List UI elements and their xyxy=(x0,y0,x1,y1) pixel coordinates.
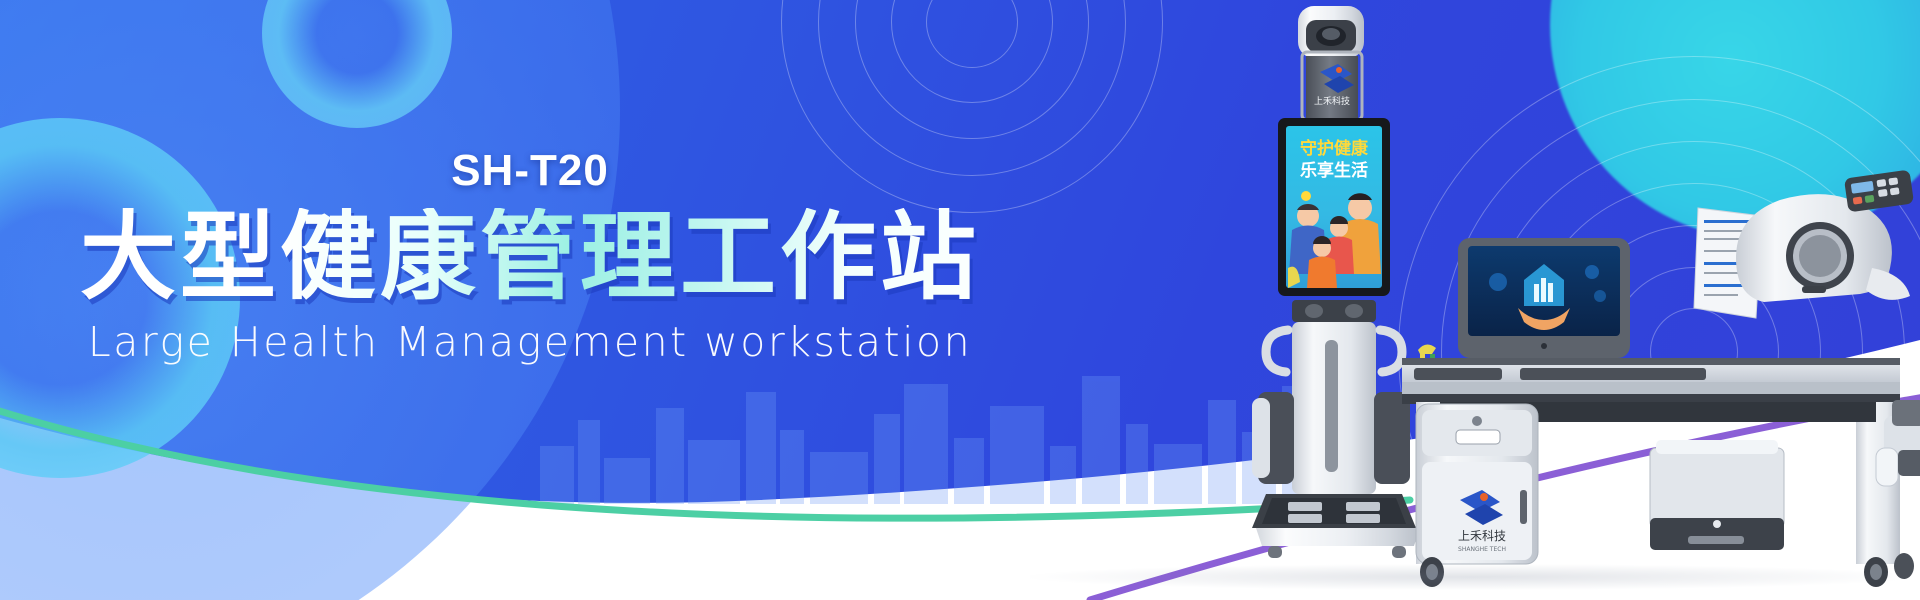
floor-shadow xyxy=(1030,564,1910,590)
page-title: 大型健康管理工作站 xyxy=(0,208,1060,308)
product-illustration: 上禾科技 守护健康 乐享生活 xyxy=(1020,0,1920,600)
kiosk-screen-headline-1: 守护健康 xyxy=(1300,138,1369,159)
printer-unit xyxy=(1650,440,1784,550)
cabinet-brand-cn: 上禾科技 xyxy=(1458,529,1506,543)
kiosk-screen-headline-2: 乐享生活 xyxy=(1300,160,1368,181)
headline-group: SH-T20 大型健康管理工作站 Large Health Management… xyxy=(0,0,1060,600)
blood-pressure-monitor xyxy=(1736,170,1914,302)
product-hero-banner: SH-T20 大型健康管理工作站 Large Health Management… xyxy=(0,0,1920,600)
model-code: SH-T20 xyxy=(0,146,1060,196)
kiosk-brand-cn: 上禾科技 xyxy=(1314,95,1350,107)
workstation-monitor: 智能健康管理工作站 xyxy=(1458,238,1630,373)
cabinet-brand-en: SHANGHE TECH xyxy=(1458,546,1506,553)
product-photo: 上禾科技 守护健康 乐享生活 xyxy=(1020,0,1920,600)
cabinet-unit: 上禾科技 SHANGHE TECH xyxy=(1416,404,1538,564)
kiosk-display: 守护健康 乐享生活 xyxy=(1278,118,1390,296)
kiosk-head xyxy=(1298,6,1364,58)
page-subtitle: Large Health Management workstation xyxy=(0,318,1060,366)
